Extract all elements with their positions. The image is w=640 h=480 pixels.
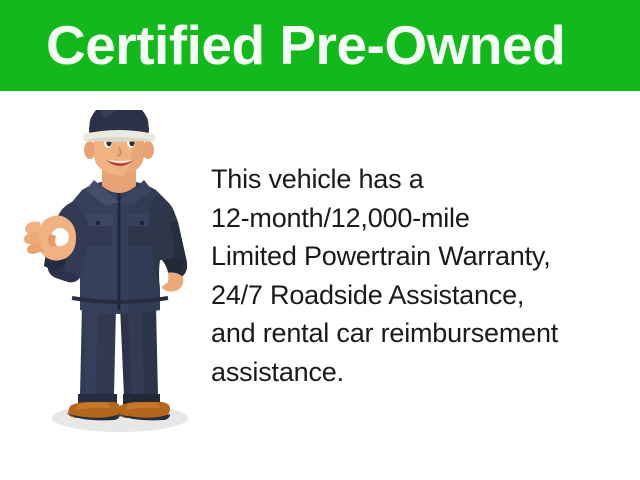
ok-hand-gesture-icon xyxy=(24,216,76,261)
left-pocket-button-icon xyxy=(96,221,100,225)
right-pocket-button-icon xyxy=(140,221,144,225)
mechanic-figure-svg xyxy=(10,110,220,440)
copy-line-2: 12-month/12,000-mile xyxy=(211,199,631,238)
copy-line-5: and rental car reimbursement xyxy=(211,314,631,353)
copy-line-4: 24/7 Roadside Assistance, xyxy=(211,276,631,315)
mechanic-illustration xyxy=(10,110,220,440)
header-banner: Certified Pre-Owned xyxy=(0,0,640,91)
warranty-description: This vehicle has a 12-month/12,000-mile … xyxy=(211,160,631,392)
certified-pre-owned-card: Certified Pre-Owned xyxy=(0,0,640,480)
copy-line-1: This vehicle has a xyxy=(211,160,631,199)
copy-line-3: Limited Powertrain Warranty, xyxy=(211,237,631,276)
page-title: Certified Pre-Owned xyxy=(46,12,565,78)
copy-line-6: assistance. xyxy=(211,353,631,392)
